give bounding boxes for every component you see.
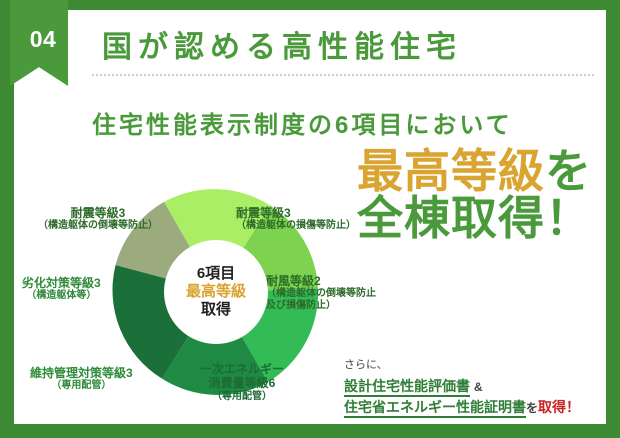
label-quake-damage-line1: 耐震等級3 [236,206,356,220]
label-wind: 耐風等級2 （構造躯体の倒壊等防止 及び損傷防止） [266,274,376,312]
center-line-2: 最高等級 [186,283,246,301]
headline-line-1: 最高等級を [357,148,592,195]
note-row-1: 設計住宅性能評価書 & [344,376,580,396]
label-degrade: 劣化対策等級3 （構造躯体等） [22,276,101,302]
headline-line-2: 全棟取得！ [357,195,592,242]
subtitle: 住宅性能表示制度の6項目において [92,105,513,140]
label-quake-damage: 耐震等級3 （構造躯体の損傷等防止） [236,206,356,232]
additional-certifications-note: さらに、 設計住宅性能評価書 & 住宅省エネルギー性能証明書を取得！ [344,358,580,418]
headline-highest-grade: 最高等級 [357,145,545,197]
center-line-3: 取得 [201,301,231,319]
label-wind-line2: （構造躯体の倒壊等防止 [266,288,376,300]
section-number: 04 [14,26,72,53]
label-degrade-line2: （構造躯体等） [22,290,101,302]
label-maintenance-line1: 維持管理対策等級3 [30,366,133,380]
label-quake-collapse-line1: 耐震等級3 [38,206,158,220]
header-divider [92,74,594,76]
label-quake-collapse: 耐震等級3 （構造躯体の倒壊等防止） [38,206,158,232]
label-energy-line3: （専用配管） [200,391,284,403]
label-energy-line1: 一次エネルギー [200,362,284,376]
outer-green-frame: 04 国が認める高性能住宅 住宅性能表示制度の6項目において 最高等級を 全棟取… [0,0,620,438]
headline: 最高等級を 全棟取得！ [357,148,592,242]
note-row-2: 住宅省エネルギー性能証明書を取得！ [344,397,580,417]
label-quake-damage-line2: （構造躯体の損傷等防止） [236,220,356,232]
certificate-energy-performance: 住宅省エネルギー性能証明書 [344,399,526,418]
label-energy-line2: 消費量等級6 [200,376,284,390]
certificate-design-performance: 設計住宅性能評価書 [344,378,470,397]
page-title: 国が認める高性能住宅 [102,22,462,66]
header: 国が認める高性能住宅 [76,16,600,74]
note-lead: さらに、 [344,358,580,374]
headline-particle: を [545,145,592,197]
label-degrade-line1: 劣化対策等級3 [22,276,101,290]
donut-center-label: 6項目 最高等級 取得 [164,240,268,344]
note-particle: を [526,401,538,415]
center-line-1: 6項目 [197,265,235,283]
label-maintenance-line2: （専用配管） [30,380,133,392]
label-wind-line1: 耐風等級2 [266,274,376,288]
infographic-root: 04 国が認める高性能住宅 住宅性能表示制度の6項目において 最高等級を 全棟取… [0,0,620,438]
label-wind-line3: 及び損傷防止） [266,300,376,312]
note-acquired: 取得！ [538,399,580,415]
white-card: 04 国が認める高性能住宅 住宅性能表示制度の6項目において 最高等級を 全棟取… [14,10,606,424]
label-maintenance: 維持管理対策等級3 （専用配管） [30,366,133,392]
label-energy: 一次エネルギー 消費量等級6 （専用配管） [200,362,284,403]
label-quake-collapse-line2: （構造躯体の倒壊等防止） [38,220,158,232]
note-ampersand: & [474,380,483,394]
